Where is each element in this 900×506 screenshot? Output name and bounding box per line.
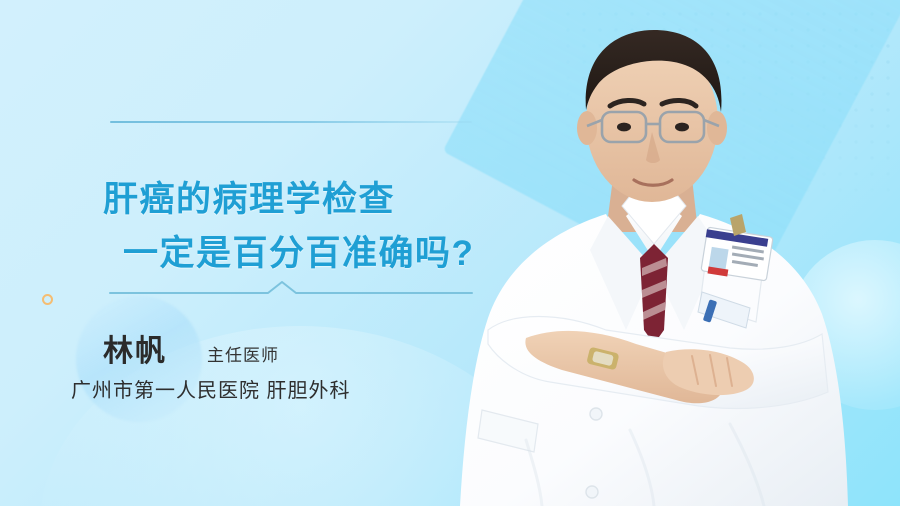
doctor-identity-line: 林帆 主任医师 [103,326,279,370]
video-cover: 肝癌的病理学检查 一定是百分百准确吗? 林帆 主任医师 广州市第一人民医院 肝胆… [0,0,900,506]
doctor-name: 林帆 [103,326,167,370]
divider-top [110,121,472,123]
doctor-affiliation: 广州市第一人民医院 肝胆外科 [71,374,351,403]
content-layer: 肝癌的病理学检查 一定是百分百准确吗? 林帆 主任医师 广州市第一人民医院 肝胆… [0,0,900,506]
divider-bottom [110,278,472,300]
title-line-1: 肝癌的病理学检查 [103,180,395,219]
doctor-rank: 主任医师 [207,341,279,366]
title-line-2: 一定是百分百准确吗? [103,227,573,280]
page-title: 肝癌的病理学检查 一定是百分百准确吗? [103,173,573,279]
